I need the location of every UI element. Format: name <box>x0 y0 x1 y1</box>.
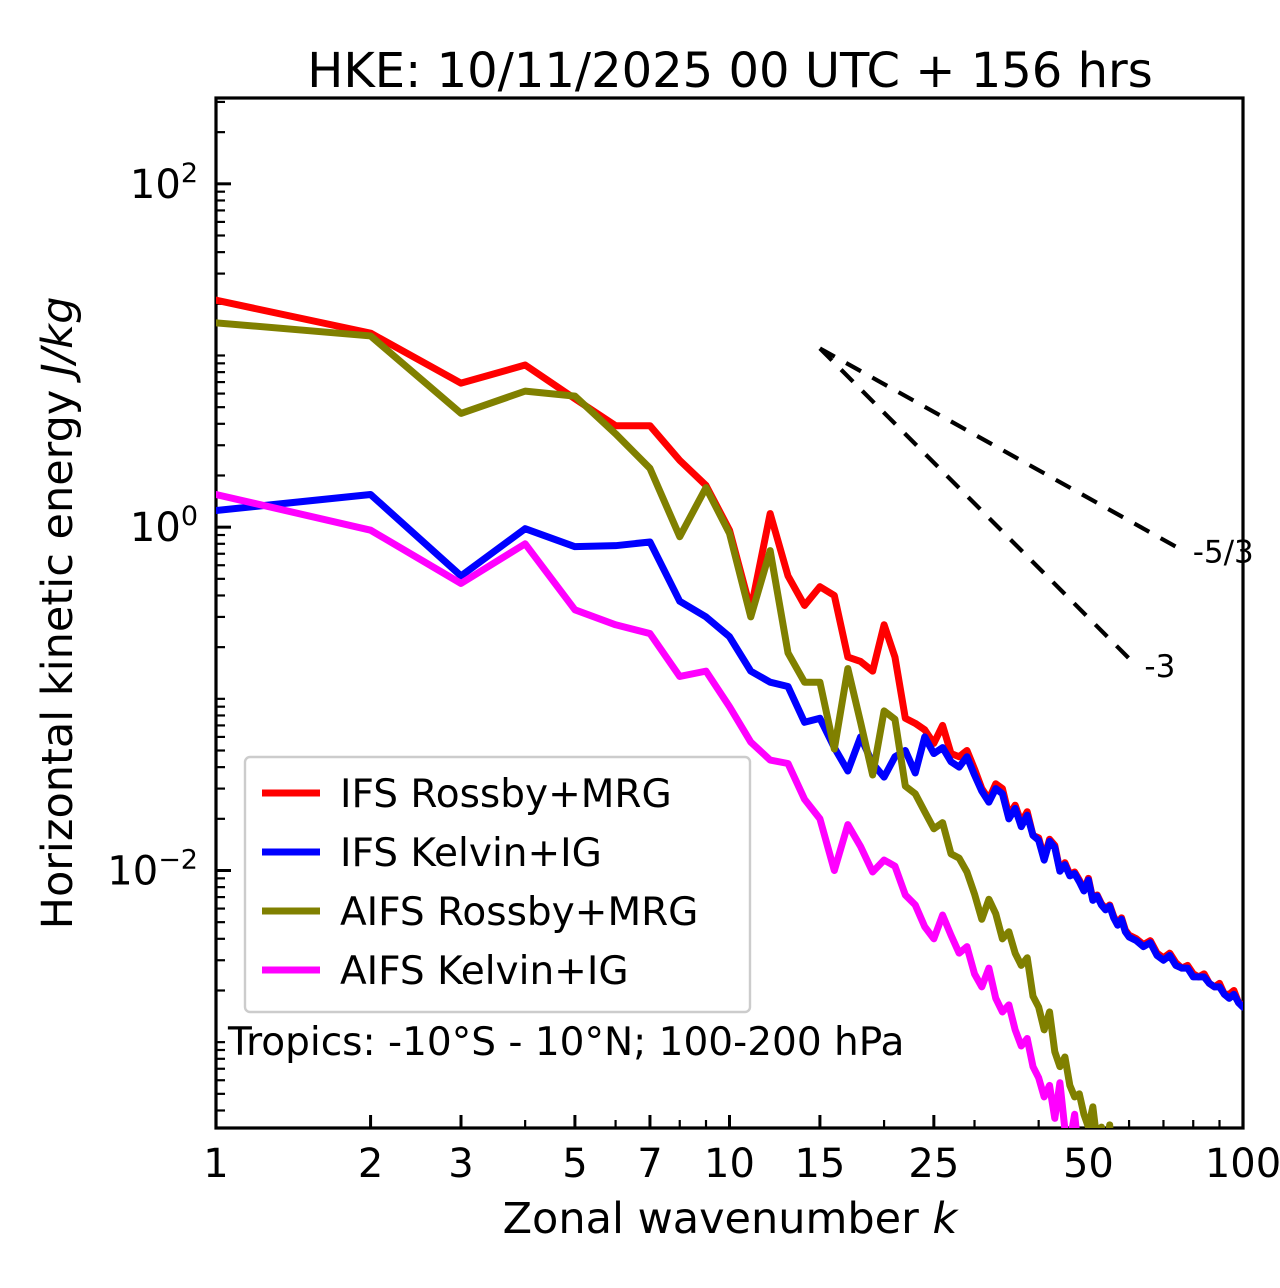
x-tick-label: 25 <box>908 1141 959 1187</box>
figure-container: HKE: 10/11/2025 00 UTC + 156 hrs 1235710… <box>0 0 1280 1288</box>
reference-line-53 <box>820 348 1185 551</box>
reference-slope-lines <box>820 348 1185 665</box>
x-tick-label: 15 <box>794 1141 845 1187</box>
reference-slope-labels: -5/3-3 <box>1144 535 1253 685</box>
chart-canvas: HKE: 10/11/2025 00 UTC + 156 hrs 1235710… <box>0 0 1280 1288</box>
chart-legend[interactable]: IFS Rossby+MRGIFS Kelvin+IGAIFS Rossby+M… <box>245 757 750 1012</box>
x-tick-label: 3 <box>448 1141 473 1187</box>
x-axis-tick-labels: 1235710152550100 <box>203 1141 1280 1187</box>
y-axis-label: Horizontal kinetic energy J/kg <box>33 297 83 930</box>
x-tick-label: 10 <box>704 1141 755 1187</box>
reference-line-3 <box>820 348 1137 665</box>
x-tick-label: 5 <box>562 1141 587 1187</box>
region-annotation: Tropics: -10°S - 10°N; 100-200 hPa <box>227 1020 904 1065</box>
chart-title: HKE: 10/11/2025 00 UTC + 156 hrs <box>307 43 1153 99</box>
y-axis-ticks <box>216 102 231 1111</box>
reference-label-3: -3 <box>1144 649 1175 685</box>
x-tick-label: 1 <box>203 1141 228 1187</box>
legend-label-ifs-rossby-mrg: IFS Rossby+MRG <box>340 772 672 817</box>
y-tick-label: 10−2 <box>107 844 198 894</box>
legend-label-ifs-kelvin-ig: IFS Kelvin+IG <box>340 831 602 876</box>
y-axis-tick-labels: 10210010−2 <box>107 158 198 895</box>
x-tick-label: 2 <box>358 1141 383 1187</box>
x-tick-label: 50 <box>1063 1141 1114 1187</box>
legend-label-aifs-rossby-mrg: AIFS Rossby+MRG <box>340 890 698 935</box>
y-tick-label: 102 <box>130 158 198 208</box>
x-tick-label: 100 <box>1205 1141 1280 1187</box>
x-axis-label: Zonal wavenumber k <box>503 1194 960 1244</box>
legend-label-aifs-kelvin-ig: AIFS Kelvin+IG <box>340 949 629 994</box>
y-tick-label: 100 <box>130 501 198 551</box>
x-tick-label: 7 <box>637 1141 662 1187</box>
reference-label-53: -5/3 <box>1193 535 1254 571</box>
